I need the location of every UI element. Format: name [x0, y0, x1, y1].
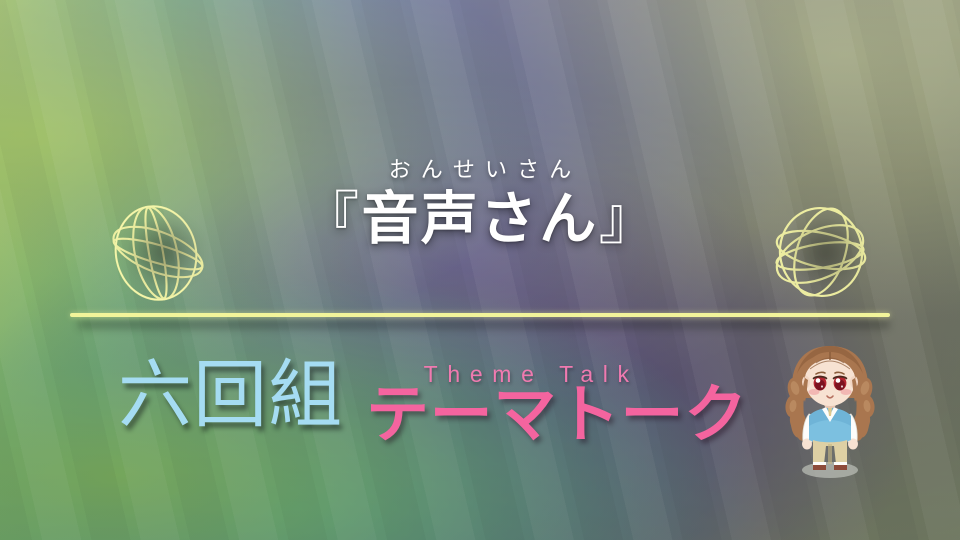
avatar-sock-left — [813, 462, 826, 465]
avatar-sock-right — [834, 462, 847, 465]
slide-canvas: おんせいさん 『音声さん』 六回組 Theme Talk テーマトーク — [0, 0, 960, 540]
divider-shadow — [78, 320, 890, 329]
close-bracket: 』 — [599, 187, 658, 251]
avatar-blush-left — [809, 389, 820, 395]
group-label: 六回組 — [118, 358, 343, 432]
avatar — [768, 336, 892, 484]
avatar-eye-left — [814, 376, 827, 391]
avatar-pants-shade — [828, 444, 832, 464]
avatar-blush-right — [841, 389, 852, 395]
title-block: おんせいさん 『音声さん』 — [0, 158, 960, 253]
divider — [70, 313, 890, 323]
open-bracket: 『 — [302, 187, 361, 251]
page-title: 『音声さん』 — [0, 186, 960, 253]
title-furigana: おんせいさん — [0, 158, 960, 182]
chibi-character-avatar — [768, 336, 892, 484]
title-text: 音声さん — [361, 187, 598, 251]
avatar-eye-right — [834, 376, 847, 391]
divider-line — [70, 313, 890, 317]
avatar-ground-shadow — [802, 462, 858, 478]
theme-jp-label: テーマトーク — [366, 384, 748, 447]
